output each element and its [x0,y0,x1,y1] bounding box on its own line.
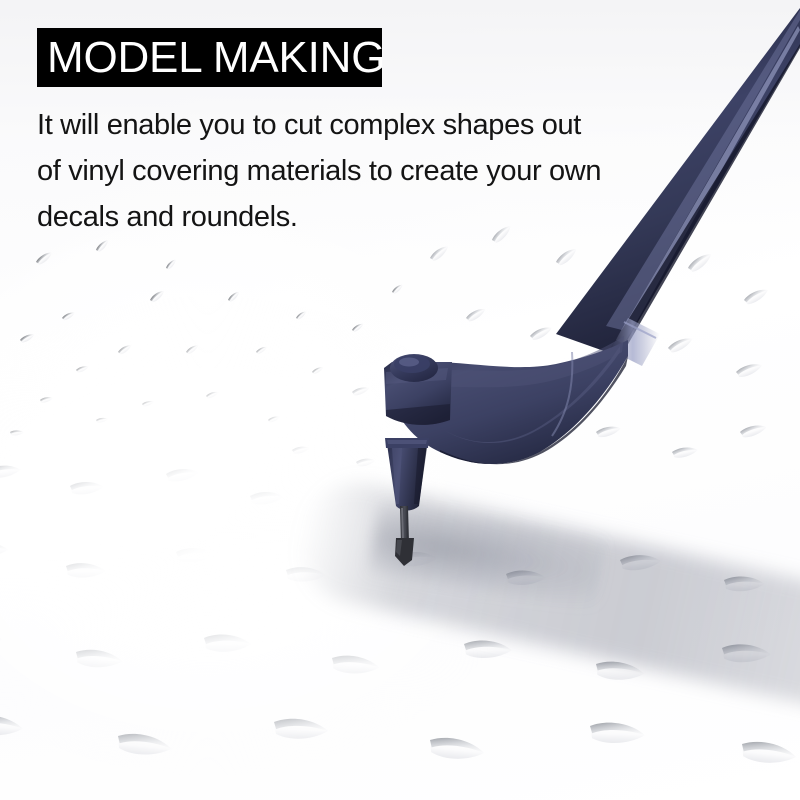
page-title: MODEL MAKING [47,36,385,80]
description-line-1: It will enable you to cut complex shapes… [37,102,637,148]
page-title-block: MODEL MAKING [37,28,382,87]
blade-holder-cone [385,438,429,511]
pivot-knob [390,354,438,382]
blade-tip [395,538,414,566]
product-photo-canvas: MODEL MAKING It will enable you to cut c… [0,0,800,800]
description-line-3: decals and roundels. [37,194,637,240]
description-paragraph: It will enable you to cut complex shapes… [37,102,637,240]
description-line-2: of vinyl covering materials to create yo… [37,148,637,194]
